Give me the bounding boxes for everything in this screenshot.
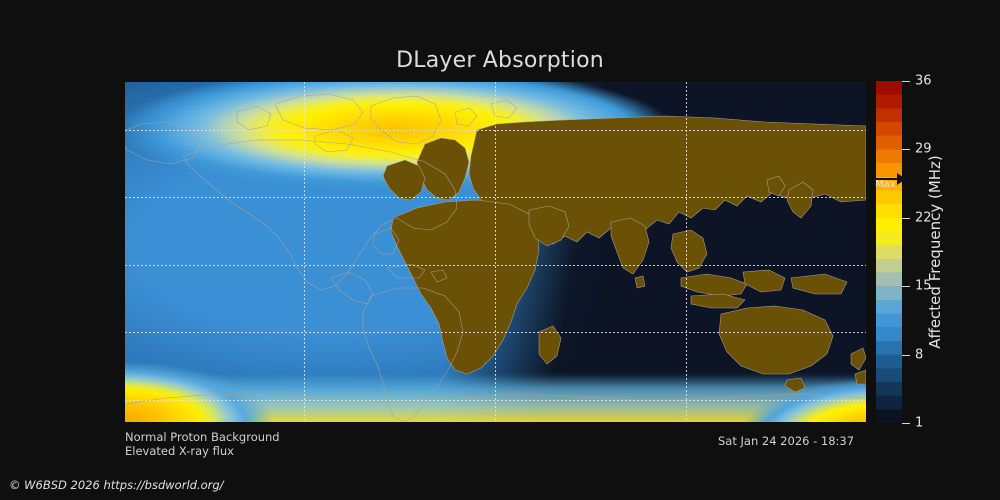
credit-link[interactable]: © W6BSD 2026 https://bsdworld.org/ (9, 478, 224, 492)
colorbar-axis-label-text: Affected Frequency (MHz) (926, 155, 944, 349)
colorbar-tick-mark-36 (902, 81, 910, 82)
colorbar-axis-label: Affected Frequency (MHz) (922, 81, 948, 423)
colorbar-max-marker: Max (874, 172, 906, 194)
colorbar-tick-mark-22 (902, 218, 910, 219)
colorbar-gradient (876, 81, 902, 423)
timestamp: Sat Jan 24 2026 - 18:37 (718, 434, 854, 448)
colorbar-tick-mark-8 (902, 355, 910, 356)
dlayer-absorption-page: DLayer Absorption (0, 0, 1000, 500)
max-label: Max (875, 180, 896, 190)
page-title: DLayer Absorption (0, 48, 1000, 73)
colorbar[interactable]: 3629221581 Max (876, 81, 902, 423)
colorbar-tick-mark-29 (902, 149, 910, 150)
world-coastlines (125, 82, 866, 422)
colorbar-tick-mark-15 (902, 286, 910, 287)
proton-status-note: Normal Proton Background (125, 430, 280, 444)
xray-status-note: Elevated X-ray flux (125, 444, 234, 458)
absorption-map[interactable] (125, 82, 866, 422)
colorbar-tick-mark-1 (902, 423, 910, 424)
max-arrow-head-icon (897, 173, 906, 185)
